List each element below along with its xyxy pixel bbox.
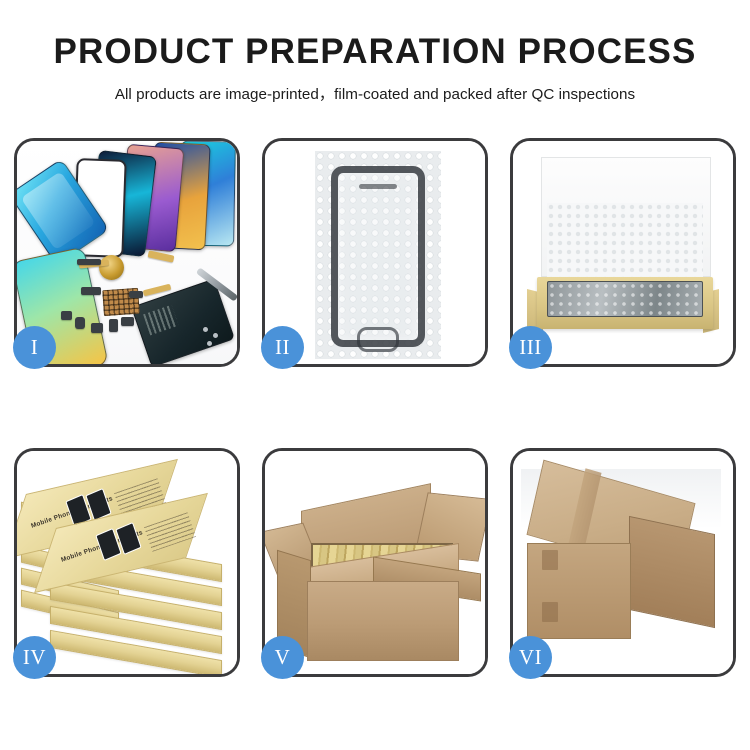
panel-6-image: [513, 451, 733, 674]
process-panel-5[interactable]: V: [262, 448, 488, 677]
panel-5-image: [265, 451, 485, 674]
panel-badge-1: I: [13, 326, 56, 369]
chip-7: [61, 311, 72, 320]
page-header: PRODUCT PREPARATION PROCESS All products…: [0, 0, 750, 104]
screw-2: [213, 333, 218, 338]
phone-parts-scene: [17, 141, 237, 364]
chip-1: [77, 259, 101, 265]
process-panel-2[interactable]: II: [262, 138, 488, 367]
process-panel-6[interactable]: VI: [510, 448, 736, 677]
process-panel-grid: I II: [14, 138, 736, 677]
panel-badge-4: IV: [13, 636, 56, 679]
inner-box-scene: [513, 141, 733, 364]
panel-2-image: [265, 141, 485, 364]
open-carton-scene: [265, 451, 485, 674]
box-stack-scene: Mobile Phone Spare Parts Mobile Phone Sp…: [17, 451, 237, 674]
chip-2: [81, 287, 101, 295]
phone-glass-panel: [331, 166, 425, 347]
panel-4-image: Mobile Phone Spare Parts Mobile Phone Sp…: [17, 451, 237, 674]
home-button-outline: [357, 327, 399, 352]
box-tray: [537, 277, 713, 329]
panel-1-image: [17, 141, 237, 364]
panel-badge-3: III: [509, 326, 552, 369]
screw-3: [207, 341, 212, 346]
earpiece-slot: [359, 184, 397, 189]
process-panel-1[interactable]: I: [14, 138, 240, 367]
panel-badge-2: II: [261, 326, 304, 369]
speaker-coil: [99, 255, 124, 280]
page-title: PRODUCT PREPARATION PROCESS: [0, 34, 750, 71]
chip-3: [75, 317, 85, 329]
chip-8: [129, 291, 143, 298]
chip-6: [121, 317, 134, 326]
carton-mark-top: [542, 550, 558, 570]
bubble-wrap-scene: [265, 141, 485, 364]
carton-mark-bottom: [542, 602, 558, 622]
process-panel-4[interactable]: Mobile Phone Spare Parts Mobile Phone Sp…: [14, 448, 240, 677]
packed-screen: [547, 281, 703, 317]
foam-padding: [547, 203, 703, 281]
page-subtitle: All products are image-printed，film-coat…: [0, 82, 750, 104]
panel-badge-6: VI: [509, 636, 552, 679]
panel-3-image: [513, 141, 733, 364]
carton-face-front: [527, 543, 631, 639]
carton-side-right: [629, 516, 715, 628]
carton-face-front: [307, 581, 459, 661]
bubble-wrap-sheet: [315, 151, 441, 359]
sealed-carton-scene: [513, 451, 733, 674]
chip-4: [91, 323, 103, 333]
flex-cable-2: [148, 250, 175, 262]
panel-badge-5: V: [261, 636, 304, 679]
process-panel-3[interactable]: III: [510, 138, 736, 367]
chip-5: [109, 319, 118, 332]
screw-1: [203, 327, 208, 332]
